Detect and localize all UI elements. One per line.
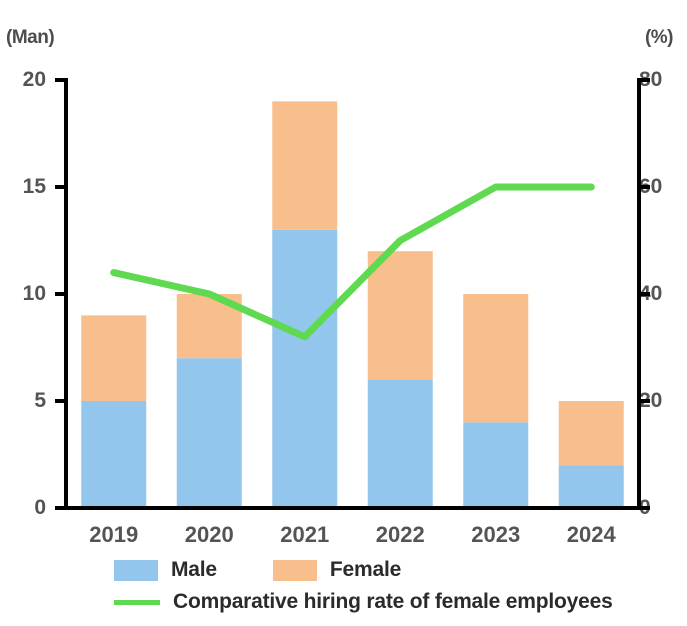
x-axis-label-2023: 2023 <box>446 524 546 546</box>
legend-label-line: Comparative hiring rate of female employ… <box>173 590 613 614</box>
bar-segment-female-2019 <box>81 315 146 401</box>
bar-segment-female-2023 <box>463 294 528 422</box>
x-axis-label-2021: 2021 <box>255 524 355 546</box>
bar-segment-female-2024 <box>559 401 624 465</box>
legend-label-female: Female <box>330 558 401 582</box>
legend-swatch-female <box>273 560 317 581</box>
bar-segment-male-2019 <box>81 401 146 508</box>
legend-row-bars: Male Female <box>0 556 687 584</box>
stacked-bar-line-chart: (Man) (%) 05101520 020406080 20192020202… <box>0 0 687 626</box>
bar-segment-male-2022 <box>368 380 433 508</box>
bar-segment-female-2021 <box>272 101 337 229</box>
x-axis-label-2022: 2022 <box>350 524 450 546</box>
bar-segment-male-2023 <box>463 422 528 508</box>
chart-legend: Male Female Comparative hiring rate of f… <box>0 556 687 616</box>
legend-swatch-male <box>114 560 158 581</box>
x-axis-label-2019: 2019 <box>64 524 164 546</box>
bar-segment-male-2021 <box>272 230 337 508</box>
legend-label-male: Male <box>171 558 217 582</box>
legend-row-line: Comparative hiring rate of female employ… <box>0 588 687 616</box>
legend-swatch-line <box>114 600 160 605</box>
bar-segment-female-2022 <box>368 251 433 379</box>
bars-group <box>81 101 624 508</box>
x-axis-label-2020: 2020 <box>159 524 259 546</box>
x-axis-label-2024: 2024 <box>541 524 641 546</box>
bar-segment-male-2020 <box>177 358 242 508</box>
bar-segment-male-2024 <box>559 465 624 508</box>
